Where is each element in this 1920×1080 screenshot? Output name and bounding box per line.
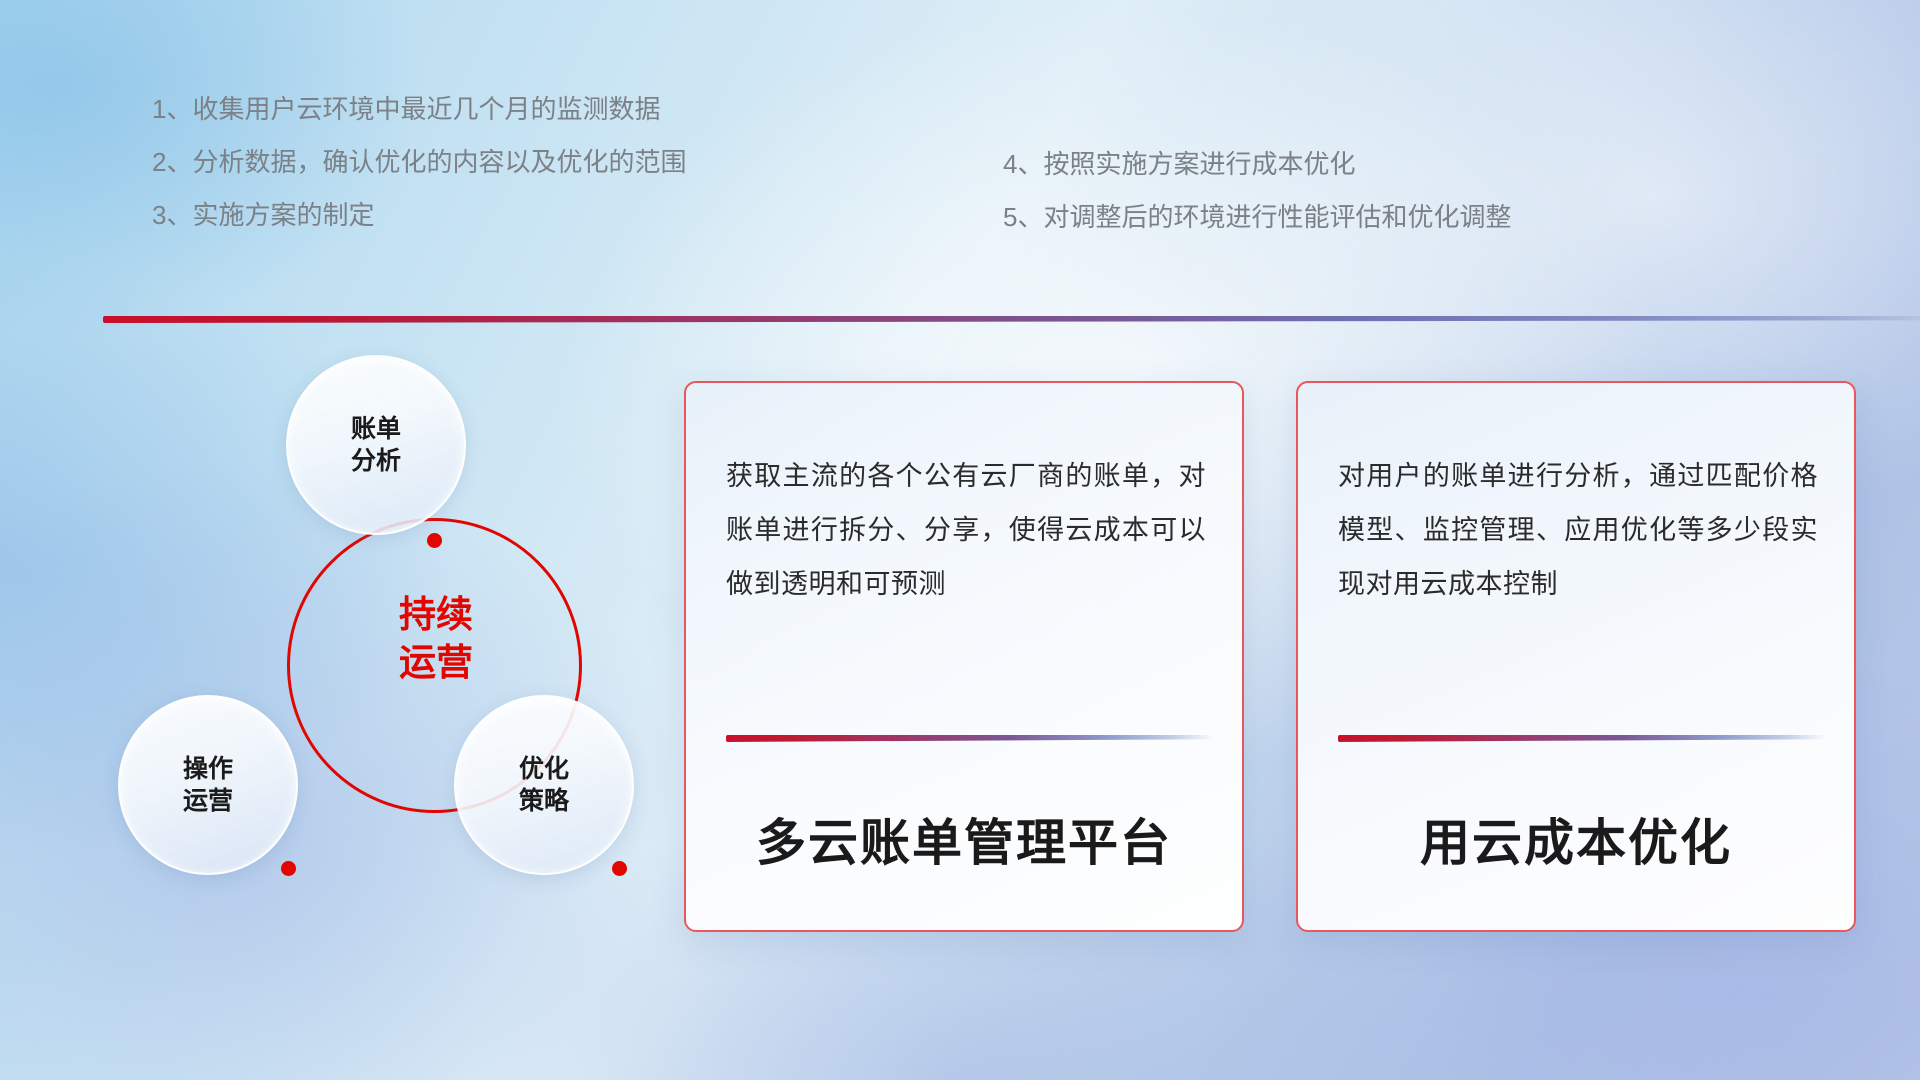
bubble-bill-analysis-line2: 分析 xyxy=(351,445,401,477)
connector-dot-right xyxy=(612,861,627,876)
card-multi-cloud-billing-body: 获取主流的各个公有云厂商的账单，对账单进行拆分、分享，使得云成本可以做到透明和可… xyxy=(726,449,1206,611)
card-multi-cloud-billing-title: 多云账单管理平台 xyxy=(686,803,1242,875)
card-multi-cloud-billing[interactable]: 获取主流的各个公有云厂商的账单，对账单进行拆分、分享，使得云成本可以做到透明和可… xyxy=(684,381,1244,932)
bubble-bill-analysis[interactable]: 账单 分析 xyxy=(286,355,466,535)
bubble-optimize-strategy[interactable]: 优化 策略 xyxy=(454,695,634,875)
step-item-3: 3、实施方案的制定 xyxy=(152,202,686,228)
step-item-2: 2、分析数据，确认优化的内容以及优化的范围 xyxy=(152,149,686,175)
steps-list-left: 1、收集用户云环境中最近几个月的监测数据 2、分析数据，确认优化的内容以及优化的… xyxy=(152,96,686,255)
card-divider-rule xyxy=(726,735,1214,742)
steps-list-right: 4、按照实施方案进行成本优化 5、对调整后的环境进行性能评估和优化调整 xyxy=(1003,151,1511,257)
card-cloud-cost-optimization-body: 对用户的账单进行分析，通过匹配价格模型、监控管理、应用优化等多少段实现对用云成本… xyxy=(1338,449,1818,611)
center-label-line1: 持续 xyxy=(341,591,531,639)
bubble-optimize-strategy-line1: 优化 xyxy=(519,753,569,785)
connector-dot-top xyxy=(427,533,442,548)
bubble-optimize-strategy-line2: 策略 xyxy=(519,785,569,817)
step-item-4: 4、按照实施方案进行成本优化 xyxy=(1003,151,1511,177)
center-label-line2: 运营 xyxy=(341,639,531,687)
bubble-bill-analysis-line1: 账单 xyxy=(351,413,401,445)
bubble-operation[interactable]: 操作 运营 xyxy=(118,695,298,875)
diagram-center-label: 持续 运营 xyxy=(341,591,531,687)
step-item-5: 5、对调整后的环境进行性能评估和优化调整 xyxy=(1003,204,1511,230)
continuous-operation-diagram: 持续 运营 账单 分析 操作 运营 优化 策略 xyxy=(96,355,616,955)
bubble-operation-line1: 操作 xyxy=(183,753,233,785)
card-cloud-cost-optimization[interactable]: 对用户的账单进行分析，通过匹配价格模型、监控管理、应用优化等多少段实现对用云成本… xyxy=(1296,381,1856,932)
card-divider-rule xyxy=(1338,735,1826,742)
bubble-operation-line2: 运营 xyxy=(183,785,233,817)
connector-dot-left xyxy=(281,861,296,876)
step-item-1: 1、收集用户云环境中最近几个月的监测数据 xyxy=(152,96,686,122)
card-cloud-cost-optimization-title: 用云成本优化 xyxy=(1298,803,1854,875)
